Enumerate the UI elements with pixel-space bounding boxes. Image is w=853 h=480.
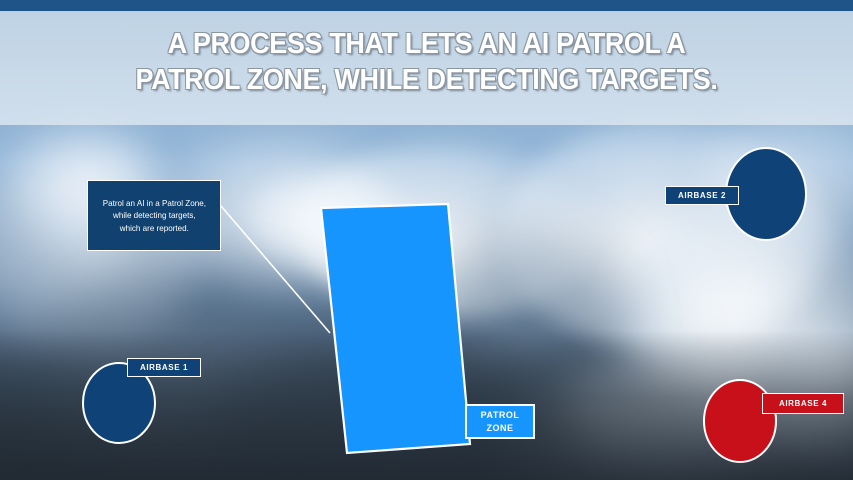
- callout-leader-line: [221, 206, 330, 333]
- label-airbase-4-text: AIRBASE 4: [779, 399, 827, 409]
- label-airbase-2-text: AIRBASE 2: [678, 191, 726, 201]
- patrol-zone-polygon[interactable]: [321, 204, 470, 453]
- label-airbase-4[interactable]: AIRBASE 4: [762, 393, 844, 414]
- presentation-slide: A PROCESS THAT LETS AN AI PATROL A PATRO…: [0, 0, 853, 480]
- label-airbase-1-text: AIRBASE 1: [140, 363, 188, 373]
- label-patrol-zone-text: PATROL ZONE: [481, 409, 520, 435]
- callout-textbox[interactable]: Patrol an AI in a Patrol Zone, while det…: [87, 180, 221, 251]
- label-patrol-zone[interactable]: PATROL ZONE: [465, 404, 535, 439]
- label-airbase-2[interactable]: AIRBASE 2: [665, 186, 739, 205]
- callout-text: Patrol an AI in a Patrol Zone, while det…: [102, 197, 205, 235]
- label-airbase-1[interactable]: AIRBASE 1: [127, 358, 201, 377]
